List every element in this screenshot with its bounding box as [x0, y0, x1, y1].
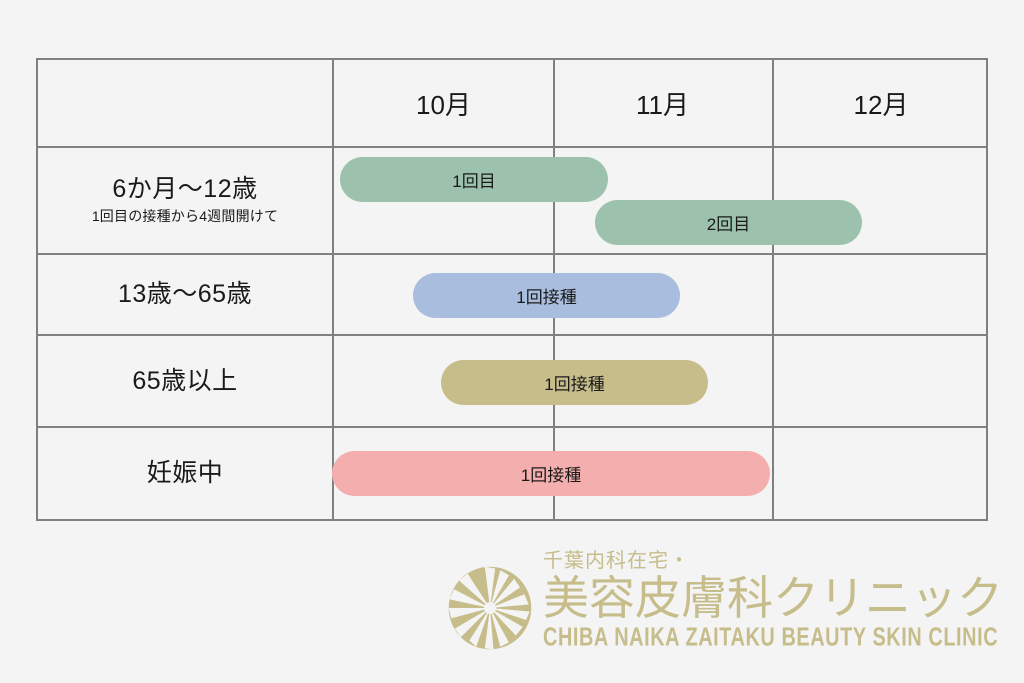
schedule-bar-single-dose: 1回接種 [441, 360, 708, 405]
logo-text-block: 千葉内科在宅・ 美容皮膚科クリニック CHIBA NAIKA ZAITAKU B… [543, 551, 967, 646]
header-month-october: 10月 [334, 60, 553, 146]
clinic-logo: 千葉内科在宅・ 美容皮膚科クリニック CHIBA NAIKA ZAITAKU B… [447, 551, 967, 655]
schedule-bar-dose2: 2回目 [595, 200, 862, 245]
header-month-december: 12月 [772, 60, 990, 146]
header-label-cell [38, 60, 334, 146]
row-label-text: 妊娠中 [147, 459, 224, 488]
table-row: 13歳〜65歳 1回接種 [38, 255, 986, 336]
row-label-cell-teens-adults: 13歳〜65歳 [38, 255, 334, 334]
row-label-text: 65歳以上 [132, 367, 237, 396]
schedule-bar-label: 2回目 [707, 210, 750, 235]
schedule-bar-single-dose: 1回接種 [332, 451, 770, 496]
vaccination-schedule-table: 10月 11月 12月 6か月〜12歳 1回目の接種から4週間開けて 1回目 2… [36, 58, 988, 521]
column-divider-3 [772, 255, 774, 334]
logo-subtitle-top: 千葉内科在宅・ [543, 551, 967, 571]
column-divider-3 [772, 428, 774, 519]
logo-main-title: 美容皮膚科クリニック [543, 574, 967, 622]
column-divider-3 [772, 336, 774, 426]
row-label-cell-infants: 6か月〜12歳 1回目の接種から4週間開けて [38, 148, 334, 253]
table-row: 6か月〜12歳 1回目の接種から4週間開けて 1回目 2回目 [38, 148, 986, 255]
schedule-bar-label: 1回接種 [521, 461, 581, 486]
starburst-circle-icon [447, 565, 533, 651]
logo-romanized-name: CHIBA NAIKA ZAITAKU BEAUTY SKIN CLINIC [543, 625, 954, 651]
row-label-text: 13歳〜65歳 [118, 280, 252, 309]
schedule-bar-label: 1回目 [452, 167, 495, 192]
row-label-text: 6か月〜12歳 [112, 175, 257, 204]
table-header-row: 10月 11月 12月 [38, 60, 986, 148]
schedule-bar-label: 1回接種 [544, 370, 604, 395]
row-label-cell-pregnancy: 妊娠中 [38, 428, 334, 519]
row-sublabel-text: 1回目の接種から4週間開けて [92, 206, 278, 226]
schedule-bar-single-dose: 1回接種 [413, 273, 680, 318]
table-row: 妊娠中 1回接種 [38, 428, 986, 519]
table-row: 65歳以上 1回接種 [38, 336, 986, 428]
schedule-bar-dose1: 1回目 [340, 157, 608, 202]
schedule-bar-label: 1回接種 [516, 283, 576, 308]
header-month-november: 11月 [553, 60, 772, 146]
row-label-cell-seniors: 65歳以上 [38, 336, 334, 426]
